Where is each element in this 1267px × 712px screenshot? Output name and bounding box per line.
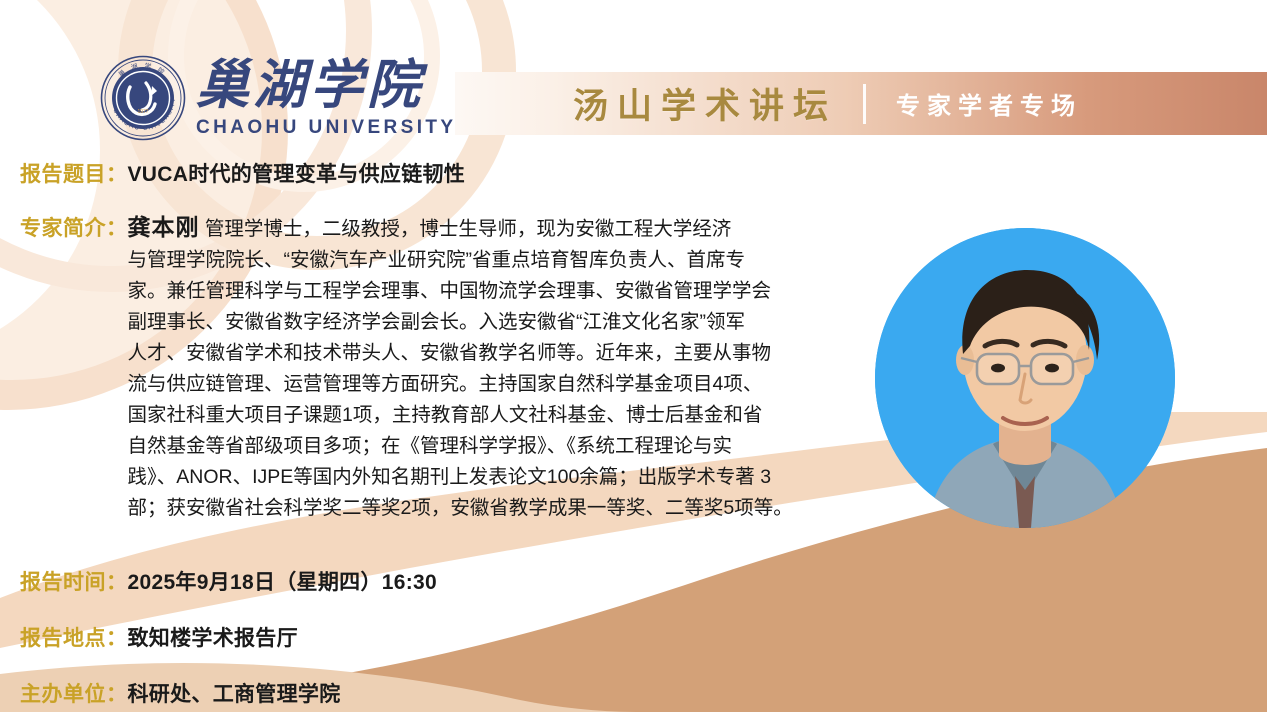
bio-line: 流与供应链管理、运营管理等方面研究。主持国家自然科学基金项目4项、 — [128, 373, 763, 395]
speaker-name: 龚本刚 — [128, 214, 200, 240]
title-label: 报告题目： — [20, 158, 128, 188]
time-value: 2025年9月18日（星期四）16:30 — [128, 566, 437, 596]
field-place-row: 报告地点： 致知楼学术报告厅 — [20, 622, 298, 652]
field-bio-row: 专家简介： 龚本刚 管理学博士，二级教授，博士生导师，现为安徽工程大学经济 与管… — [20, 212, 890, 524]
host-value: 科研处、工商管理学院 — [128, 678, 341, 708]
bio-line: 自然基金等省部级项目多项；在《管理科学学报》、《系统工程理论与实 — [128, 435, 733, 457]
bio-line: 与管理学院院长、“安徽汽车产业研究院”省重点培育智库负责人、首席专 — [128, 249, 746, 271]
bio-line: 家。兼任管理科学与工程学会理事、中国物流学会理事、安徽省管理学学会 — [128, 280, 772, 302]
bio-line: 践》、ANOR、IJPE等国内外知名期刊上发表论文100余篇；出版学术专著 3 — [128, 466, 772, 488]
bio-paragraph: 龚本刚 管理学博士，二级教授，博士生导师，现为安徽工程大学经济 与管理学院院长、… — [128, 212, 853, 524]
host-label: 主办单位： — [20, 678, 128, 708]
title-value: VUCA时代的管理变革与供应链韧性 — [128, 158, 466, 188]
field-title-row: 报告题目： VUCA时代的管理变革与供应链韧性 — [20, 158, 465, 188]
time-label: 报告时间： — [20, 566, 128, 596]
bio-label: 专家简介： — [20, 212, 128, 242]
bio-line: 国家社科重大项目子课题1项，主持教育部人文社科基金、博士后基金和省 — [128, 404, 763, 426]
field-host-row: 主办单位： 科研处、工商管理学院 — [20, 678, 341, 708]
bio-line-text: 管理学博士，二级教授，博士生导师，现为安徽工程大学经济 — [200, 218, 732, 240]
bio-line: 龚本刚 管理学博士，二级教授，博士生导师，现为安徽工程大学经济 — [128, 218, 732, 240]
bio-line: 人才、安徽省学术和技术带头人、安徽省教学名师等。近年来，主要从事物 — [128, 342, 772, 364]
bio-line: 部；获安徽省社会科学奖二等奖2项，安徽省教学成果一等奖、二等奖5项等。 — [128, 497, 793, 519]
speaker-portrait — [875, 228, 1175, 528]
place-label: 报告地点： — [20, 622, 128, 652]
place-value: 致知楼学术报告厅 — [128, 622, 298, 652]
field-time-row: 报告时间： 2025年9月18日（星期四）16:30 — [20, 566, 437, 596]
bio-line: 副理事长、安徽省数字经济学会副会长。入选安徽省“江淮文化名家”领军 — [128, 311, 746, 333]
poster-canvas: 汤山学术讲坛 专家学者专场 1977 巢 湖 学 院 CHAOHU — [0, 0, 1267, 712]
